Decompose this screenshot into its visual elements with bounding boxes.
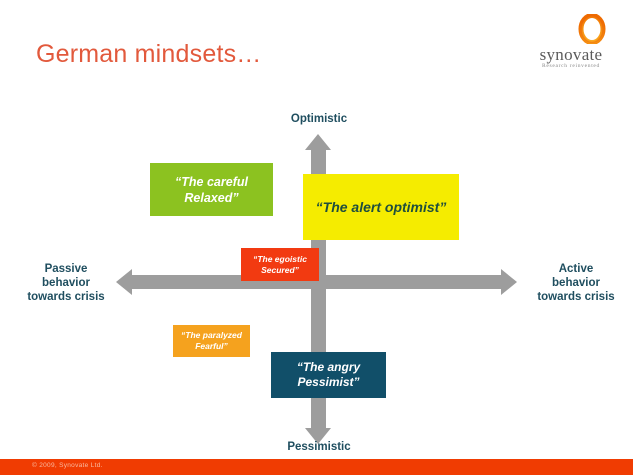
segment-line2: Relaxed” <box>184 191 238 205</box>
axis-label-optimistic: Optimistic <box>259 112 379 126</box>
axis-label-passive-line1: Passive <box>8 262 124 276</box>
axis-label-pessimistic: Pessimistic <box>259 440 379 454</box>
segment-box-alert-optimist[interactable]: “The alert optimist” <box>303 174 459 240</box>
slide-canvas: German mindsets… synovate Research reinv… <box>0 0 633 475</box>
footer-bar: © 2009, Synovate Ltd. <box>0 459 633 475</box>
segment-line2: Pessimist” <box>297 375 359 389</box>
arrow-up-icon <box>305 134 331 150</box>
segment-line2: Secured” <box>261 265 299 275</box>
axis-label-passive-line2: behavior <box>8 276 124 290</box>
segment-box-angry-pessimist[interactable]: “The angry Pessimist” <box>271 352 386 398</box>
segment-line1: “The alert optimist” <box>316 199 447 215</box>
segment-line1: “The careful <box>175 175 248 189</box>
axis-label-passive-line3: towards crisis <box>8 290 124 304</box>
axis-label-active-line2: behavior <box>518 276 633 290</box>
axis-label-active-line1: Active <box>518 262 633 276</box>
segment-label-angry-pessimist: “The angry Pessimist” <box>297 360 360 390</box>
arrow-right-icon <box>501 269 517 295</box>
segment-line1: “The paralyzed <box>181 330 242 340</box>
segment-label-alert-optimist: “The alert optimist” <box>316 199 447 216</box>
axis-label-active: Active behavior towards crisis <box>518 262 633 304</box>
segment-line1: “The egoistic <box>253 254 307 264</box>
segment-label-paralyzed-fearful: “The paralyzed Fearful” <box>181 330 242 352</box>
mindset-matrix: Optimistic Pessimistic Passive behavior … <box>0 0 633 475</box>
segment-box-paralyzed-fearful[interactable]: “The paralyzed Fearful” <box>173 325 250 357</box>
segment-label-careful-relaxed: “The careful Relaxed” <box>175 174 248 206</box>
segment-line1: “The angry <box>297 360 360 374</box>
footer-copyright: © 2009, Synovate Ltd. <box>32 462 103 469</box>
axis-label-passive: Passive behavior towards crisis <box>8 262 124 304</box>
segment-box-careful-relaxed[interactable]: “The careful Relaxed” <box>150 163 273 216</box>
axis-label-active-line3: towards crisis <box>518 290 633 304</box>
segment-box-egoistic-secured[interactable]: “The egoistic Secured” <box>241 248 319 281</box>
segment-line2: Fearful” <box>195 341 228 351</box>
segment-label-egoistic-secured: “The egoistic Secured” <box>253 254 307 276</box>
